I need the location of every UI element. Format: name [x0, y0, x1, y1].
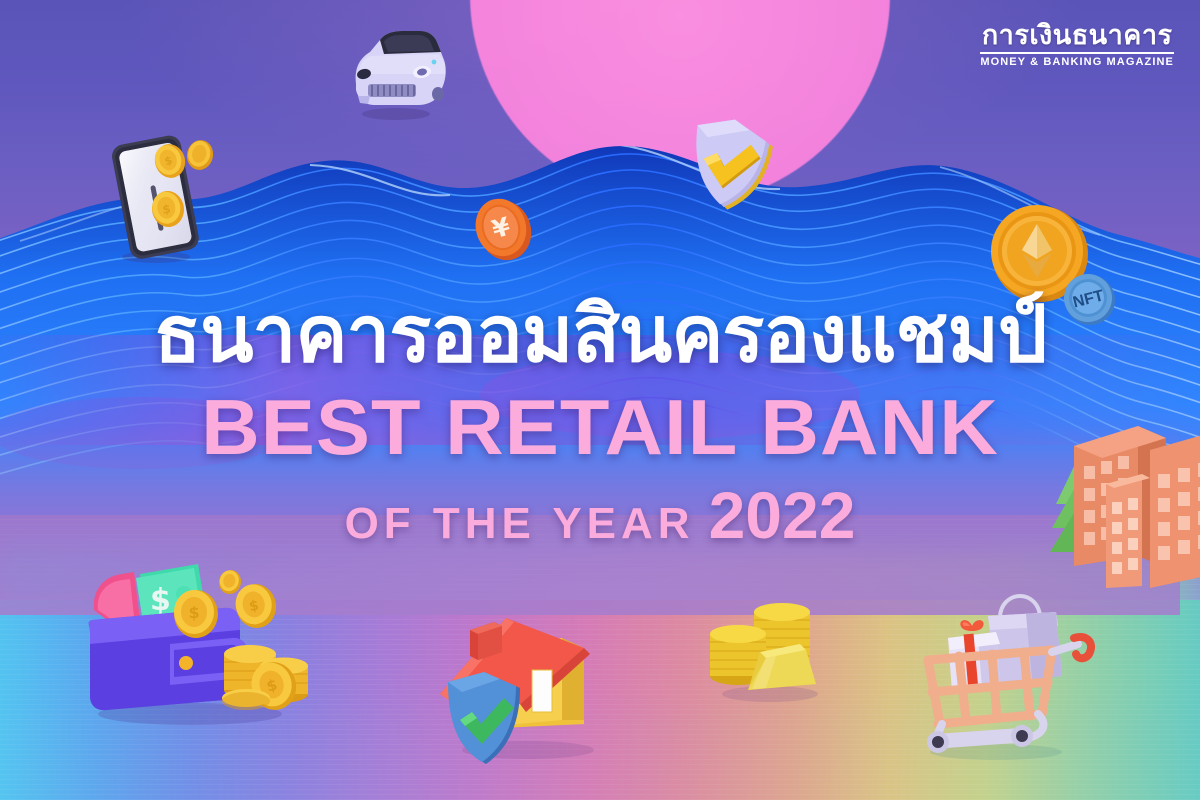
wallet-object: $ $: [78, 558, 308, 728]
svg-text:$: $: [188, 603, 199, 622]
logo-divider: [980, 52, 1174, 54]
headline-year-row: OF THE YEAR 2022: [0, 482, 1200, 548]
house-object: [432, 608, 622, 763]
logo-subtitle: MONEY & BANKING MAGAZINE: [980, 57, 1174, 68]
smartphone-object: $ $: [108, 133, 228, 268]
car-object: [334, 22, 454, 122]
gold-bar-object: [704, 592, 834, 704]
dollar-symbol: $: [150, 583, 171, 618]
headline-year: 2022: [709, 482, 856, 548]
logo-thai-name: การเงินธนาคาร: [980, 22, 1174, 50]
headline-year-prefix: OF THE YEAR: [345, 502, 695, 546]
headline-english: BEST RETAIL BANK: [0, 388, 1200, 466]
headline-block: ธนาคารออมสินครองแชมป์ BEST RETAIL BANK O…: [0, 296, 1200, 548]
magazine-logo: การเงินธนาคาร MONEY & BANKING MAGAZINE: [980, 22, 1174, 68]
yen-coin-object: ¥: [470, 188, 542, 266]
security-shield-object: [672, 113, 782, 228]
shopping-cart-object: [902, 582, 1102, 762]
poster-root: $ $ ¥: [0, 0, 1200, 800]
headline-thai: ธนาคารออมสินครองแชมป์: [0, 296, 1200, 374]
